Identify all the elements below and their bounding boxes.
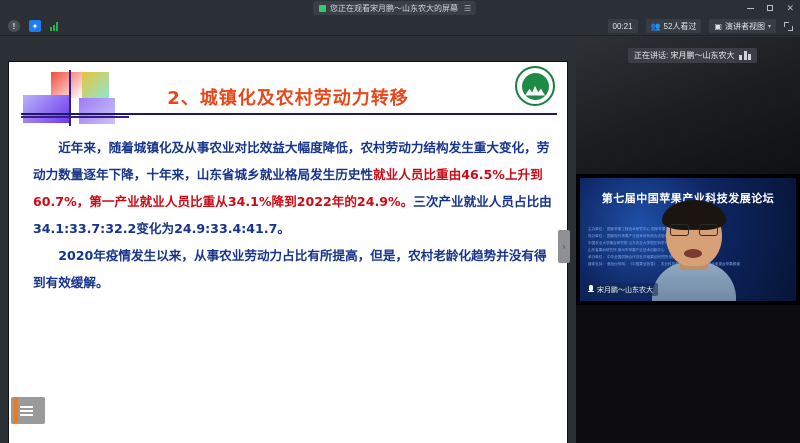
- window-controls: ✕: [747, 0, 794, 16]
- participant-portrait: [654, 204, 734, 301]
- slide-body: 近年来，随着城镇化及从事农业对比效益大幅度降低，农村劳动力结构发生重大变化，劳动…: [33, 134, 553, 296]
- active-speaker-area: 正在讲话: 宋月鹏～山东农大: [576, 37, 800, 174]
- speaking-label: 正在讲话: 宋月鹏～山东农大: [634, 50, 734, 61]
- speaking-indicator: 正在讲话: 宋月鹏～山东农大: [628, 48, 757, 63]
- fullscreen-icon[interactable]: [784, 22, 793, 31]
- hamburger-icon[interactable]: ☰: [464, 4, 470, 13]
- shared-screen-stage: 2、城镇化及农村劳动力转移 近年来，随着城镇化及从事农业对比效益大幅度降低，农村…: [0, 37, 576, 443]
- participant-name-label: 宋月鹏～山东农大: [597, 285, 653, 295]
- glasses-icon: [670, 224, 718, 236]
- slide-paragraph-2: 2020年疫情发生以来，从事农业劳动力占比有所提高，但是，农村老龄化趋势并没有得…: [33, 242, 553, 296]
- share-active-indicator-icon: [319, 5, 326, 12]
- toolbar-left-icons: ! ✦: [8, 16, 58, 36]
- zoom-meeting-window: 您正在观看宋月鹏～山东农大的屏幕 ☰ ✕ ! ✦ 00:21 👥 52人看过 ▣…: [0, 0, 800, 443]
- maximize-button[interactable]: [767, 5, 773, 11]
- toolbar-right-controls: 00:21 👥 52人看过 ▣ 演讲者视图 ▾: [608, 16, 793, 36]
- panel-toggle-icon[interactable]: [11, 397, 45, 424]
- collapse-arrow-icon[interactable]: ›: [558, 230, 570, 263]
- meeting-toolbar: ! ✦ 00:21 👥 52人看过 ▣ 演讲者视图 ▾: [0, 16, 800, 36]
- viewers-count-label: 52人看过: [664, 21, 697, 32]
- microphone-icon: [588, 285, 594, 294]
- chevron-down-icon[interactable]: ▾: [768, 23, 771, 30]
- participant-video-tile[interactable]: 第七届中国苹果产业科技发展论坛 2022年 主办单位： 国家苹果工程技术研究中心…: [576, 174, 800, 305]
- paragraph-run-blue-3: 2020年疫情发生以来，从事农业劳动力占比有所提高，但是，农村老龄化趋势并没有得…: [33, 248, 547, 290]
- network-signal-icon[interactable]: [50, 22, 58, 31]
- screen-share-notice[interactable]: 您正在观看宋月鹏～山东农大的屏幕 ☰: [313, 1, 476, 15]
- minimize-button[interactable]: [747, 8, 754, 9]
- presentation-slide: 2、城镇化及农村劳动力转移 近年来，随着城镇化及从事农业对比效益大幅度降低，农村…: [8, 61, 568, 443]
- close-button[interactable]: ✕: [786, 4, 794, 13]
- participant-name-tag: 宋月鹏～山东农大: [585, 283, 658, 296]
- people-icon: 👥: [651, 22, 661, 31]
- window-title-bar: 您正在观看宋月鹏～山东农大的屏幕 ☰ ✕: [0, 0, 800, 16]
- meeting-timer: 00:21: [608, 19, 638, 33]
- layout-icon: ▣: [714, 22, 722, 31]
- view-mode-selector[interactable]: ▣ 演讲者视图 ▾: [709, 19, 776, 33]
- info-icon[interactable]: !: [8, 20, 20, 32]
- title-divider: [21, 113, 557, 115]
- security-shield-icon[interactable]: ✦: [29, 20, 41, 32]
- slide-paragraph-1: 近年来，随着城镇化及从事农业对比效益大幅度降低，农村劳动力结构发生重大变化，劳动…: [33, 134, 553, 242]
- screen-share-notice-label: 您正在观看宋月鹏～山东农大的屏幕: [330, 3, 458, 14]
- viewers-count-button[interactable]: 👥 52人看过: [646, 19, 702, 33]
- view-mode-label: 演讲者视图: [725, 21, 765, 32]
- slide-title: 2、城镇化及农村劳动力转移: [9, 84, 567, 110]
- participants-video-panel: 正在讲话: 宋月鹏～山东农大 第七届中国苹果产业科技发展论坛 2022年 主办单…: [576, 37, 800, 443]
- speaking-bars-icon: [739, 51, 751, 60]
- participant-video-feed: 第七届中国苹果产业科技发展论坛 2022年 主办单位： 国家苹果工程技术研究中心…: [580, 178, 796, 301]
- panel-empty-area: [576, 305, 800, 443]
